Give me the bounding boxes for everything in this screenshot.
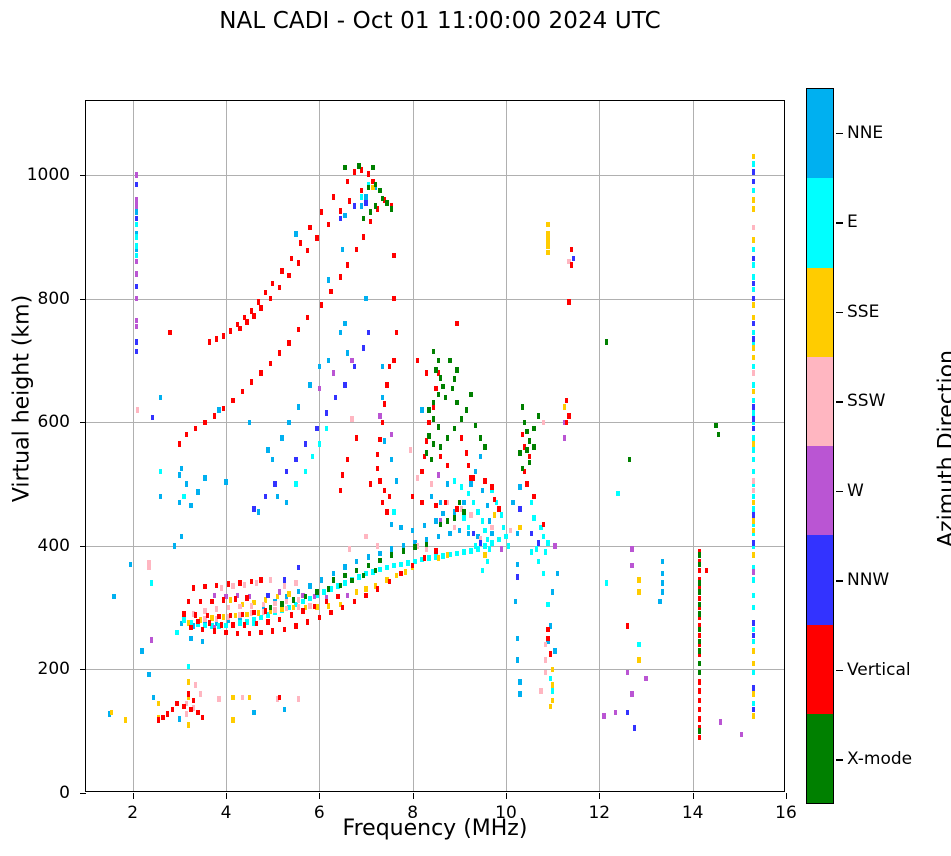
data-point-x-mode — [378, 188, 382, 194]
data-point-nne — [661, 571, 665, 577]
data-point-vertical — [236, 631, 240, 637]
colorbar-segment-w[interactable] — [807, 446, 833, 535]
data-point-x-mode — [390, 206, 394, 212]
data-point-w — [719, 719, 723, 725]
data-point-vertical — [257, 299, 261, 305]
colorbar-segment-sse[interactable] — [807, 268, 833, 357]
data-point-sse — [546, 250, 550, 256]
data-point-x-mode — [453, 376, 457, 382]
data-point-vertical — [222, 333, 226, 339]
data-point-vertical — [446, 463, 450, 469]
data-point-vertical — [546, 636, 550, 642]
data-point-nnw — [266, 593, 270, 599]
data-point-vertical — [255, 621, 259, 627]
data-point-e — [752, 701, 756, 707]
data-point-x-mode — [355, 568, 359, 574]
data-point-e — [752, 627, 756, 633]
data-point-vertical — [427, 420, 431, 426]
data-point-nnw — [285, 469, 289, 475]
data-point-e — [399, 562, 403, 568]
data-point-vertical — [525, 481, 529, 487]
data-point-e — [455, 551, 459, 557]
data-point-vertical — [313, 604, 317, 610]
data-point-nnw — [752, 426, 756, 432]
data-point-x-mode — [343, 573, 347, 579]
y-tick-label: 200 — [0, 659, 70, 679]
data-point-x-mode — [460, 416, 464, 422]
data-point-w — [626, 670, 630, 676]
data-point-x-mode — [521, 466, 525, 472]
data-point-vertical — [196, 710, 200, 716]
data-point-nne — [327, 358, 331, 364]
data-point-nnw — [752, 281, 756, 287]
data-point-sse — [124, 717, 128, 723]
data-point-ssw — [227, 605, 231, 611]
data-point-vertical — [420, 469, 424, 475]
data-point-vertical — [434, 548, 438, 554]
data-point-sse — [187, 722, 191, 728]
data-point-nne — [297, 589, 301, 595]
data-point-e — [385, 565, 389, 571]
data-point-sse — [752, 197, 756, 203]
data-point-nne — [551, 589, 555, 595]
data-point-sse — [637, 657, 641, 663]
data-point-nne — [423, 523, 427, 529]
data-point-sse — [157, 701, 161, 707]
data-point-vertical — [171, 707, 175, 713]
data-point-w — [135, 203, 139, 209]
data-point-nne — [285, 500, 289, 506]
data-point-sse — [637, 589, 641, 595]
data-point-sse — [551, 698, 555, 704]
data-point-e — [530, 549, 534, 555]
data-point-vertical — [329, 289, 333, 295]
data-point-vertical — [208, 339, 212, 345]
data-point-vertical — [222, 406, 226, 412]
data-point-ssw — [147, 565, 151, 571]
data-point-nne — [341, 247, 345, 253]
data-point-e — [135, 253, 139, 259]
data-point-vertical — [269, 296, 273, 302]
data-point-vertical — [425, 370, 429, 376]
data-point-x-mode — [698, 639, 702, 645]
data-point-vertical — [497, 506, 501, 512]
data-point-nnw — [752, 633, 756, 639]
data-point-vertical — [705, 568, 709, 574]
data-point-nnw — [472, 531, 476, 537]
data-point-nne — [469, 481, 473, 487]
data-point-w — [346, 593, 350, 599]
data-point-vertical — [308, 225, 312, 231]
data-point-vertical — [182, 704, 186, 710]
data-point-vertical — [346, 457, 350, 463]
data-point-nnw — [752, 336, 756, 342]
data-point-e — [507, 543, 511, 549]
data-point-nne — [343, 213, 347, 219]
data-point-x-mode — [432, 400, 436, 406]
data-point-vertical — [381, 500, 385, 506]
data-point-vertical — [196, 619, 200, 625]
data-point-vertical — [327, 222, 331, 228]
data-point-x-mode — [378, 558, 382, 564]
data-point-x-mode — [374, 182, 378, 188]
data-point-x-mode — [698, 611, 702, 617]
data-point-vertical — [315, 235, 319, 241]
data-point-x-mode — [362, 216, 366, 222]
data-point-sse — [234, 613, 238, 619]
data-point-ssw — [273, 607, 277, 613]
data-point-nne — [434, 518, 438, 524]
data-point-x-mode — [698, 589, 702, 595]
data-point-nne — [294, 231, 298, 237]
colorbar-segment-nne[interactable] — [807, 89, 833, 178]
data-point-e — [150, 580, 154, 586]
data-point-ssw — [199, 691, 203, 697]
data-point-vertical — [346, 179, 350, 185]
data-point-e — [460, 484, 464, 490]
data-point-vertical — [194, 612, 198, 618]
data-point-x-mode — [605, 339, 609, 345]
data-point-x-mode — [455, 367, 459, 373]
data-point-vertical — [248, 631, 252, 637]
data-point-ssw — [509, 528, 513, 534]
data-point-nnw — [752, 540, 756, 546]
data-point-ssw — [539, 688, 543, 694]
data-point-vertical — [203, 584, 207, 590]
colorbar-segment-nnw[interactable] — [807, 535, 833, 624]
data-point-nne — [556, 571, 560, 577]
data-point-vertical — [287, 273, 291, 279]
data-point-vertical — [546, 627, 550, 633]
data-point-nne — [661, 580, 665, 586]
data-point-nnw — [283, 577, 287, 583]
data-point-w — [630, 546, 634, 552]
data-point-vertical — [469, 475, 473, 481]
data-point-vertical — [339, 208, 343, 214]
data-point-nnw — [135, 349, 139, 355]
data-point-nne — [159, 395, 163, 401]
data-point-vertical — [245, 595, 249, 601]
data-point-w — [350, 358, 354, 364]
colorbar-segment-x-mode[interactable] — [807, 714, 833, 803]
data-point-e — [311, 454, 315, 460]
data-point-nne — [439, 500, 443, 506]
data-point-x-mode — [432, 349, 436, 355]
data-point-ssw — [241, 695, 245, 701]
data-point-sse — [752, 518, 756, 524]
data-point-nne — [355, 559, 359, 565]
data-point-ssw — [285, 599, 289, 605]
data-point-x-mode — [483, 444, 487, 450]
colorbar-label-nnw: NNW — [847, 570, 889, 590]
data-point-w — [135, 324, 139, 330]
data-point-nnw — [752, 256, 756, 262]
data-point-nnw — [339, 216, 343, 222]
data-point-vertical — [245, 319, 249, 325]
data-point-vertical — [336, 594, 340, 600]
data-point-e — [752, 593, 756, 599]
data-point-x-mode — [350, 578, 354, 584]
data-point-sse — [292, 605, 296, 611]
data-point-vertical — [339, 488, 343, 494]
data-point-ssw — [285, 606, 289, 612]
data-point-vertical — [388, 364, 392, 370]
data-point-sse — [546, 243, 550, 249]
data-point-nnw — [135, 339, 139, 345]
data-point-vertical — [467, 463, 471, 469]
data-point-x-mode — [369, 209, 373, 215]
data-point-e — [135, 222, 139, 228]
data-point-ssw — [490, 525, 494, 531]
data-point-e — [542, 571, 546, 577]
data-point-x-mode — [479, 435, 483, 441]
data-point-ssw — [269, 577, 273, 583]
data-point-sse — [752, 661, 756, 667]
data-point-nnw — [343, 382, 347, 388]
data-point-vertical — [434, 386, 438, 392]
data-point-vertical — [378, 437, 382, 443]
data-point-nnw — [264, 494, 268, 500]
data-point-vertical — [203, 420, 207, 426]
data-point-ssw — [453, 525, 457, 531]
data-point-nne — [364, 194, 368, 200]
data-point-nne — [553, 648, 557, 654]
data-point-vertical — [698, 568, 702, 574]
data-point-e — [441, 553, 445, 559]
data-point-e — [476, 509, 480, 515]
data-point-sse — [752, 345, 756, 351]
data-point-vertical — [493, 497, 497, 503]
data-point-vertical — [348, 198, 352, 204]
data-point-vertical — [698, 735, 702, 741]
data-point-nnw — [752, 512, 756, 518]
data-point-ssw — [185, 711, 189, 717]
data-point-vertical — [278, 617, 282, 623]
data-point-vertical — [318, 615, 322, 621]
data-point-nne — [147, 672, 151, 678]
data-point-x-mode — [413, 544, 417, 550]
data-point-nnw — [752, 620, 756, 626]
data-point-nne — [467, 531, 471, 537]
data-point-nne — [511, 500, 515, 506]
data-point-x-mode — [430, 457, 434, 463]
data-point-vertical — [271, 628, 275, 634]
data-point-nnw — [752, 296, 756, 302]
data-point-nne — [516, 562, 520, 568]
data-point-vertical — [392, 253, 396, 259]
data-point-ssw — [752, 225, 756, 231]
data-point-vertical — [271, 281, 275, 287]
data-point-nne — [448, 531, 452, 537]
data-point-e — [616, 491, 620, 497]
data-point-e — [535, 546, 539, 552]
data-point-sse — [437, 555, 441, 561]
data-point-w — [135, 259, 139, 265]
data-point-ssw — [544, 670, 548, 676]
data-point-sse — [551, 667, 555, 673]
data-point-e — [752, 577, 756, 583]
data-point-vertical — [376, 452, 380, 458]
data-point-x-mode — [474, 423, 478, 429]
colorbar-label: Azimuth Direction — [935, 279, 951, 619]
data-point-x-mode — [343, 165, 347, 171]
data-point-nnw — [135, 216, 139, 222]
data-point-w — [630, 691, 634, 697]
data-point-x-mode — [448, 358, 452, 364]
data-point-w — [318, 386, 322, 392]
data-point-e — [294, 481, 298, 487]
data-point-vertical — [264, 290, 268, 296]
data-point-vertical — [210, 599, 214, 605]
data-point-vertical — [567, 413, 571, 419]
data-point-vertical — [243, 622, 247, 628]
data-point-nnw — [479, 540, 483, 546]
data-point-ssw — [409, 447, 413, 453]
data-point-ssw — [238, 604, 242, 610]
data-point-x-mode — [532, 444, 536, 450]
data-point-nne — [378, 551, 382, 557]
x-tick — [133, 793, 134, 799]
data-point-vertical — [490, 484, 494, 490]
data-point-nne — [283, 707, 287, 713]
data-point-nne — [446, 481, 450, 487]
data-point-vertical — [346, 262, 350, 268]
data-point-nnw — [752, 685, 756, 691]
data-point-vertical — [217, 614, 221, 620]
data-point-vertical — [187, 599, 191, 605]
data-point-nne — [180, 534, 184, 540]
data-point-vertical — [283, 627, 287, 633]
data-point-vertical — [224, 630, 228, 636]
data-point-vertical — [175, 701, 179, 707]
data-point-nne — [112, 594, 116, 600]
data-point-nnw — [294, 457, 298, 463]
data-point-nne — [395, 478, 399, 484]
data-point-x-mode — [717, 432, 721, 438]
y-tick — [80, 669, 86, 670]
data-point-nne — [332, 571, 336, 577]
data-point-vertical — [290, 256, 294, 262]
data-point-vertical — [420, 500, 424, 506]
data-point-e — [182, 494, 186, 500]
data-point-vertical — [166, 711, 170, 717]
data-point-e — [752, 410, 756, 416]
data-point-vertical — [269, 361, 273, 367]
data-point-e — [343, 580, 347, 586]
colorbar-segment-e[interactable] — [807, 178, 833, 267]
data-point-vertical — [521, 432, 525, 438]
data-point-x-mode — [434, 367, 438, 373]
data-point-e — [497, 537, 501, 543]
data-point-sse — [752, 154, 756, 160]
data-point-vertical — [392, 296, 396, 302]
data-point-e — [752, 457, 756, 463]
data-point-vertical — [199, 599, 203, 605]
data-point-e — [490, 540, 494, 546]
data-point-x-mode — [304, 594, 308, 600]
data-point-x-mode — [518, 450, 522, 456]
data-point-x-mode — [698, 627, 702, 633]
data-point-e — [752, 494, 756, 500]
data-point-vertical — [434, 503, 438, 509]
data-point-x-mode — [357, 163, 361, 169]
data-point-vertical — [465, 450, 469, 456]
data-point-vertical — [367, 171, 371, 177]
data-point-ssw — [350, 416, 354, 422]
data-point-nne — [383, 438, 387, 444]
data-point-sse — [222, 614, 226, 620]
data-point-x-mode — [427, 433, 431, 439]
data-point-sse — [248, 695, 252, 701]
data-point-e — [427, 555, 431, 561]
data-point-sse — [752, 528, 756, 534]
data-point-vertical — [567, 299, 571, 305]
data-point-sse — [563, 404, 567, 410]
data-point-sse — [546, 237, 550, 243]
data-point-sse — [752, 237, 756, 243]
data-point-vertical — [416, 358, 420, 364]
data-point-e — [318, 441, 322, 447]
data-point-vertical — [565, 398, 569, 404]
data-point-sse — [187, 679, 191, 685]
data-point-nne — [252, 710, 256, 716]
data-point-e — [406, 560, 410, 566]
data-point-e — [392, 509, 396, 515]
data-point-sse — [446, 552, 450, 558]
data-point-nne — [201, 639, 205, 645]
data-point-sse — [404, 569, 408, 575]
data-point-sse — [637, 577, 641, 583]
data-point-e — [308, 596, 312, 602]
data-point-vertical — [213, 628, 217, 634]
data-point-e — [752, 364, 756, 370]
data-point-e — [135, 243, 139, 249]
data-point-e — [530, 500, 534, 506]
data-point-x-mode — [439, 444, 443, 450]
data-point-e — [752, 262, 756, 268]
data-point-nne — [135, 209, 139, 215]
data-point-nne — [318, 364, 322, 370]
data-point-e — [486, 559, 490, 565]
data-point-e — [544, 549, 548, 555]
data-point-sse — [231, 717, 235, 723]
data-point-nnw — [752, 404, 756, 410]
data-point-vertical — [383, 488, 387, 494]
data-point-e — [752, 287, 756, 293]
data-point-x-mode — [698, 552, 702, 558]
data-point-e — [481, 518, 485, 524]
data-point-x-mode — [432, 416, 436, 422]
x-tick — [599, 793, 600, 799]
data-point-vertical — [411, 563, 415, 569]
data-point-x-mode — [698, 661, 702, 667]
colorbar-segment-ssw[interactable] — [807, 357, 833, 446]
data-point-x-mode — [453, 515, 457, 521]
data-point-vertical — [234, 596, 238, 602]
data-point-ssw — [364, 534, 368, 540]
data-point-nne — [458, 528, 462, 534]
data-point-x-mode — [280, 601, 284, 607]
data-point-vertical — [369, 219, 373, 225]
colorbar-segment-vertical[interactable] — [807, 625, 833, 714]
data-point-e — [500, 512, 504, 518]
data-point-nne — [658, 599, 662, 605]
data-point-w — [135, 318, 139, 324]
data-point-e — [752, 188, 756, 194]
colorbar-label-ssw: SSW — [847, 391, 885, 411]
data-point-vertical — [353, 169, 357, 175]
data-point-nne — [297, 404, 301, 410]
